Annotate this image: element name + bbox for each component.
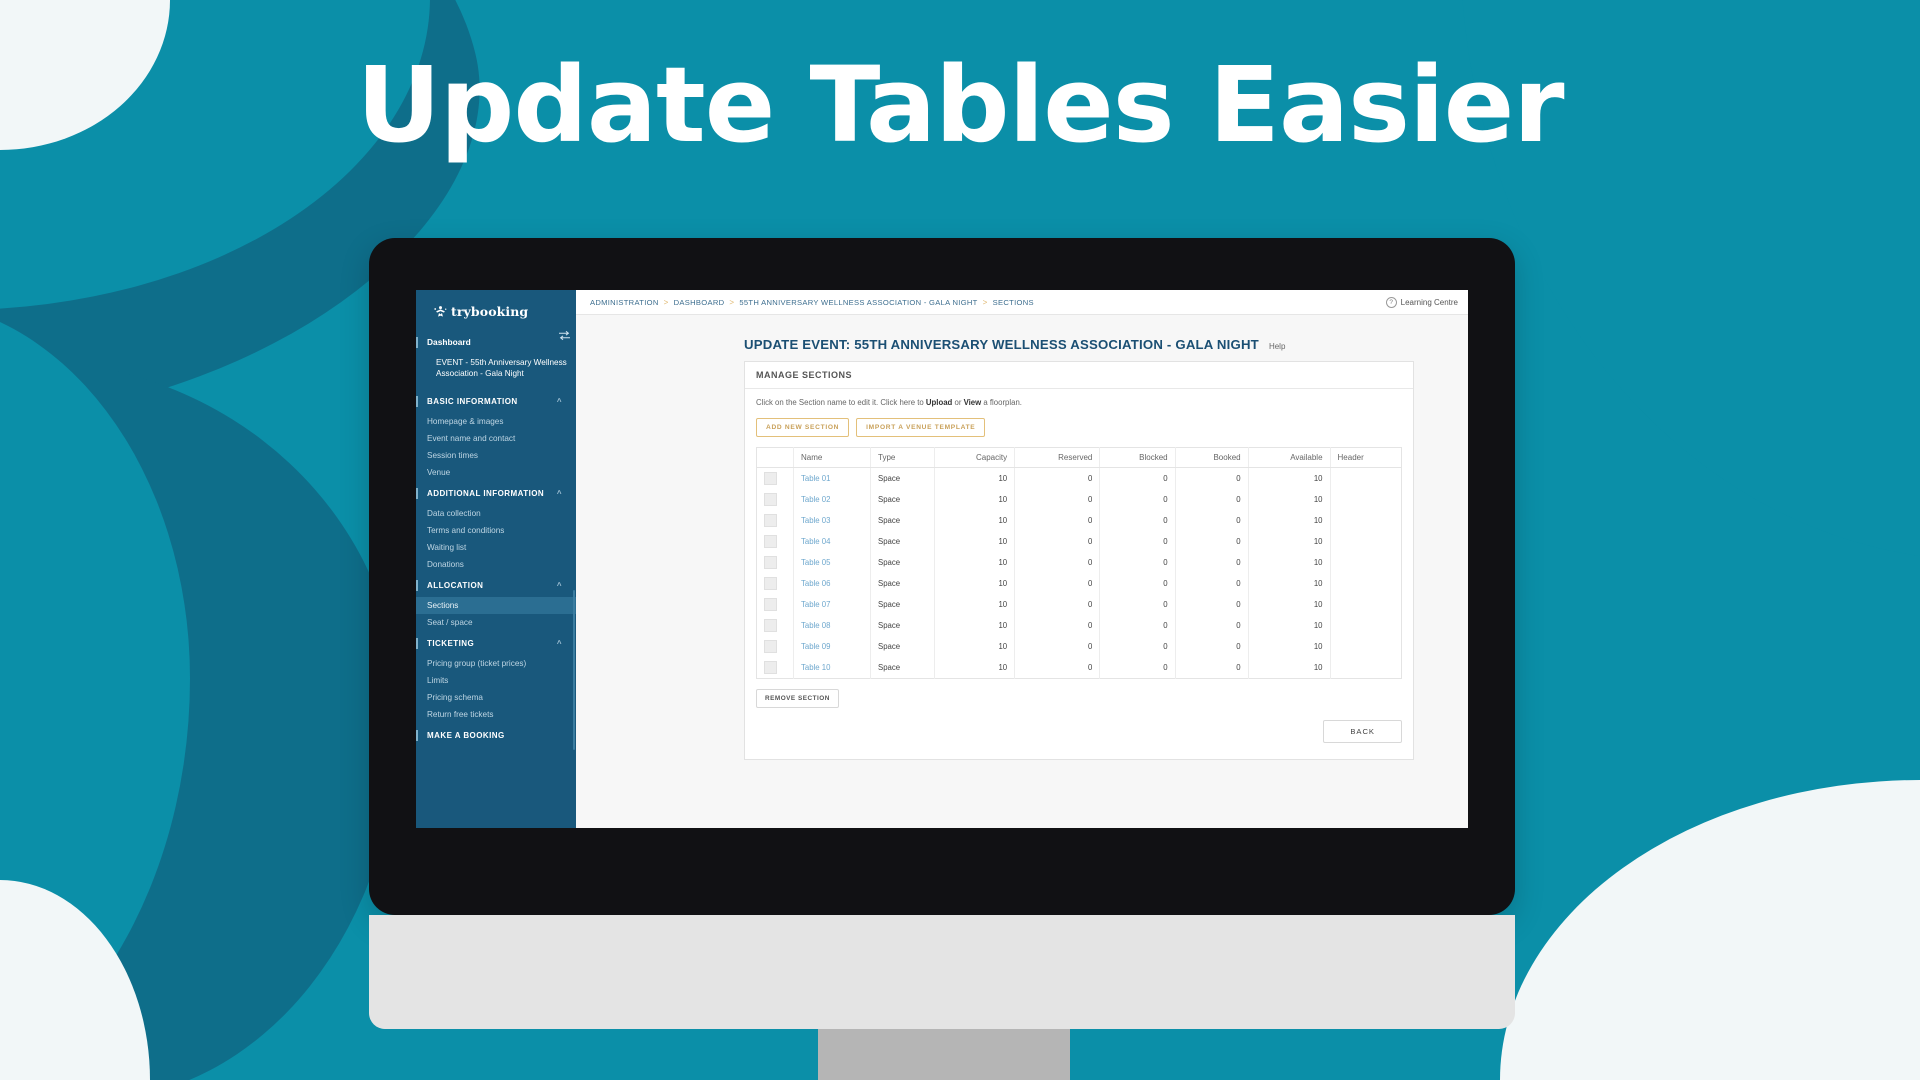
row-reserved-cell: 0 (1015, 636, 1100, 657)
row-select-cell (757, 510, 794, 531)
sidebar-group-ticketing[interactable]: TICKETING ^ (416, 631, 576, 655)
row-reserved-cell: 0 (1015, 594, 1100, 615)
sidebar-current-event: EVENT - 55th Anniversary Wellness Associ… (416, 351, 576, 389)
monitor-chin (369, 915, 1515, 1029)
sidebar-group-basic-information[interactable]: BASIC INFORMATION ^ (416, 389, 576, 413)
table-row: Table 06Space1000010 (757, 573, 1402, 594)
row-available-cell: 10 (1248, 615, 1330, 636)
row-booked-cell: 0 (1175, 636, 1248, 657)
row-name-cell: Table 04 (794, 531, 871, 552)
section-name-link[interactable]: Table 05 (801, 558, 830, 567)
sidebar-item-homepage-images[interactable]: Homepage & images (416, 413, 576, 430)
table-row: Table 01Space1000010 (757, 468, 1402, 490)
row-type-cell: Space (871, 531, 935, 552)
row-header-cell (1330, 615, 1401, 636)
manage-sections-card: MANAGE SECTIONS Click on the Section nam… (744, 361, 1414, 760)
row-header-cell (1330, 468, 1401, 490)
brand-wordmark: trybooking (451, 304, 528, 319)
back-button[interactable]: BACK (1323, 720, 1402, 743)
section-name-link[interactable]: Table 09 (801, 642, 830, 651)
row-select-cell (757, 636, 794, 657)
row-booked-cell: 0 (1175, 531, 1248, 552)
row-name-cell: Table 08 (794, 615, 871, 636)
row-select-cell (757, 594, 794, 615)
row-type-cell: Space (871, 510, 935, 531)
row-name-cell: Table 09 (794, 636, 871, 657)
view-link[interactable]: View (964, 398, 982, 407)
row-name-cell: Table 06 (794, 573, 871, 594)
row-reserved-cell: 0 (1015, 552, 1100, 573)
sidebar-group-label: MAKE A BOOKING (427, 731, 505, 740)
sidebar-scrollbar[interactable] (573, 590, 575, 750)
section-name-link[interactable]: Table 04 (801, 537, 830, 546)
row-select-cell (757, 468, 794, 490)
row-available-cell: 10 (1248, 636, 1330, 657)
sidebar-item-terms-and-conditions[interactable]: Terms and conditions (416, 522, 576, 539)
row-select-cell (757, 573, 794, 594)
breadcrumb-event[interactable]: 55TH ANNIVERSARY WELLNESS ASSOCIATION - … (739, 298, 977, 307)
row-available-cell: 10 (1248, 573, 1330, 594)
row-header-cell (1330, 510, 1401, 531)
monitor-stand-neck (818, 1029, 1070, 1080)
learning-centre-label: Learning Centre (1401, 298, 1458, 307)
row-available-cell: 10 (1248, 594, 1330, 615)
section-name-link[interactable]: Table 02 (801, 495, 830, 504)
sidebar-item-limits[interactable]: Limits (416, 672, 576, 689)
row-blocked-cell: 0 (1100, 573, 1175, 594)
row-reserved-cell: 0 (1015, 489, 1100, 510)
sidebar-group-make-a-booking[interactable]: MAKE A BOOKING (416, 723, 576, 747)
column-type: Type (871, 448, 935, 468)
column-booked: Booked (1175, 448, 1248, 468)
back-button-row: BACK (756, 720, 1402, 743)
page-title: UPDATE EVENT: 55TH ANNIVERSARY WELLNESS … (744, 337, 1259, 352)
sidebar-item-waiting-list[interactable]: Waiting list (416, 539, 576, 556)
sidebar-item-dashboard[interactable]: Dashboard (416, 329, 576, 351)
row-checkbox[interactable] (764, 493, 777, 506)
row-booked-cell: 0 (1175, 552, 1248, 573)
section-name-link[interactable]: Table 08 (801, 621, 830, 630)
sidebar-item-event-name-and-contact[interactable]: Event name and contact (416, 430, 576, 447)
row-reserved-cell: 0 (1015, 510, 1100, 531)
sidebar-group-label: BASIC INFORMATION (427, 397, 518, 406)
row-capacity-cell: 10 (935, 489, 1015, 510)
row-blocked-cell: 0 (1100, 510, 1175, 531)
row-checkbox[interactable] (764, 598, 777, 611)
row-checkbox[interactable] (764, 619, 777, 632)
table-row: Table 10Space1000010 (757, 657, 1402, 679)
row-capacity-cell: 10 (935, 615, 1015, 636)
row-type-cell: Space (871, 573, 935, 594)
upload-link[interactable]: Upload (926, 398, 952, 407)
sidebar-group-label: ADDITIONAL INFORMATION (427, 489, 544, 498)
hint-part-3: a floorplan. (981, 398, 1022, 407)
chevron-up-icon: ^ (557, 581, 566, 590)
row-available-cell: 10 (1248, 531, 1330, 552)
top-bar: ADMINISTRATION > DASHBOARD > 55TH ANNIVE… (576, 290, 1468, 315)
row-header-cell (1330, 636, 1401, 657)
column-available: Available (1248, 448, 1330, 468)
section-name-link[interactable]: Table 06 (801, 579, 830, 588)
table-header-row: Name Type Capacity Reserved Blocked Book… (757, 448, 1402, 468)
card-body: Click on the Section name to edit it. Cl… (745, 389, 1413, 759)
sidebar-item-sections[interactable]: Sections (416, 597, 576, 614)
monitor-screen: trybooking Dashboard EVENT - 55th Annive… (416, 290, 1468, 828)
row-type-cell: Space (871, 552, 935, 573)
row-blocked-cell: 0 (1100, 468, 1175, 490)
row-select-cell (757, 657, 794, 679)
row-select-cell (757, 531, 794, 552)
row-type-cell: Space (871, 489, 935, 510)
row-capacity-cell: 10 (935, 594, 1015, 615)
row-blocked-cell: 0 (1100, 552, 1175, 573)
sections-table: Name Type Capacity Reserved Blocked Book… (756, 447, 1402, 679)
row-type-cell: Space (871, 636, 935, 657)
section-name-link[interactable]: Table 07 (801, 600, 830, 609)
row-reserved-cell: 0 (1015, 615, 1100, 636)
row-checkbox[interactable] (764, 577, 777, 590)
row-booked-cell: 0 (1175, 657, 1248, 679)
row-checkbox[interactable] (764, 556, 777, 569)
table-row: Table 08Space1000010 (757, 615, 1402, 636)
row-available-cell: 10 (1248, 510, 1330, 531)
sidebar-item-donations[interactable]: Donations (416, 556, 576, 573)
row-booked-cell: 0 (1175, 489, 1248, 510)
row-select-cell (757, 489, 794, 510)
sidebar-item-session-times[interactable]: Session times (416, 447, 576, 464)
row-booked-cell: 0 (1175, 468, 1248, 490)
trybooking-mark-icon (434, 305, 447, 318)
sidebar: trybooking Dashboard EVENT - 55th Annive… (416, 290, 576, 828)
row-header-cell (1330, 594, 1401, 615)
row-name-cell: Table 05 (794, 552, 871, 573)
breadcrumb-administration[interactable]: ADMINISTRATION (590, 298, 659, 307)
sidebar-item-pricing-group[interactable]: Pricing group (ticket prices) (416, 655, 576, 672)
row-checkbox[interactable] (764, 514, 777, 527)
column-select (757, 448, 794, 468)
row-available-cell: 10 (1248, 657, 1330, 679)
row-type-cell: Space (871, 468, 935, 490)
breadcrumb-separator-icon: > (983, 298, 988, 307)
table-row: Table 02Space1000010 (757, 489, 1402, 510)
sidebar-group-label: ALLOCATION (427, 581, 483, 590)
row-blocked-cell: 0 (1100, 657, 1175, 679)
row-name-cell: Table 01 (794, 468, 871, 490)
hero-title: Update Tables Easier (0, 48, 1920, 162)
hint-part-1: Click on the Section name to edit it. Cl… (756, 398, 926, 407)
row-booked-cell: 0 (1175, 594, 1248, 615)
table-row: Table 09Space1000010 (757, 636, 1402, 657)
breadcrumb-sections[interactable]: SECTIONS (993, 298, 1034, 307)
section-hint-text: Click on the Section name to edit it. Cl… (756, 398, 1402, 407)
row-capacity-cell: 10 (935, 531, 1015, 552)
column-name: Name (794, 448, 871, 468)
row-available-cell: 10 (1248, 468, 1330, 490)
sidebar-group-additional-information[interactable]: ADDITIONAL INFORMATION ^ (416, 481, 576, 505)
row-capacity-cell: 10 (935, 510, 1015, 531)
column-reserved: Reserved (1015, 448, 1100, 468)
row-reserved-cell: 0 (1015, 531, 1100, 552)
table-row: Table 07Space1000010 (757, 594, 1402, 615)
monitor-bezel: trybooking Dashboard EVENT - 55th Annive… (369, 238, 1515, 915)
row-capacity-cell: 10 (935, 468, 1015, 490)
row-capacity-cell: 10 (935, 657, 1015, 679)
row-header-cell (1330, 657, 1401, 679)
brand-logo[interactable]: trybooking (416, 290, 576, 329)
row-checkbox[interactable] (764, 661, 777, 674)
row-type-cell: Space (871, 615, 935, 636)
row-booked-cell: 0 (1175, 573, 1248, 594)
action-button-row: ADD NEW SECTION IMPORT A VENUE TEMPLATE (756, 418, 1402, 437)
row-header-cell (1330, 573, 1401, 594)
page-title-row: UPDATE EVENT: 55TH ANNIVERSARY WELLNESS … (744, 337, 1412, 352)
row-select-cell (757, 552, 794, 573)
breadcrumb: ADMINISTRATION > DASHBOARD > 55TH ANNIVE… (590, 298, 1034, 307)
sidebar-item-data-collection[interactable]: Data collection (416, 505, 576, 522)
row-name-cell: Table 07 (794, 594, 871, 615)
breadcrumb-separator-icon: > (729, 298, 734, 307)
row-type-cell: Space (871, 594, 935, 615)
row-blocked-cell: 0 (1100, 636, 1175, 657)
trybooking-app: trybooking Dashboard EVENT - 55th Annive… (416, 290, 1468, 828)
breadcrumb-separator-icon: > (664, 298, 669, 307)
chevron-up-icon: ^ (557, 639, 566, 648)
content-area: UPDATE EVENT: 55TH ANNIVERSARY WELLNESS … (576, 315, 1468, 828)
section-name-link[interactable]: Table 10 (801, 663, 830, 672)
row-name-cell: Table 10 (794, 657, 871, 679)
sections-table-head: Name Type Capacity Reserved Blocked Book… (757, 448, 1402, 468)
chevron-up-icon: ^ (557, 397, 566, 406)
row-reserved-cell: 0 (1015, 657, 1100, 679)
sidebar-groups: BASIC INFORMATION ^ Homepage & images Ev… (416, 389, 576, 747)
row-type-cell: Space (871, 657, 935, 679)
row-header-cell (1330, 489, 1401, 510)
column-blocked: Blocked (1100, 448, 1175, 468)
learning-centre-link[interactable]: ? Learning Centre (1386, 297, 1458, 308)
row-checkbox[interactable] (764, 472, 777, 485)
column-capacity: Capacity (935, 448, 1015, 468)
sidebar-group-allocation[interactable]: ALLOCATION ^ (416, 573, 576, 597)
sections-table-body: Table 01Space1000010Table 02Space1000010… (757, 468, 1402, 679)
row-booked-cell: 0 (1175, 510, 1248, 531)
import-venue-template-button[interactable]: IMPORT A VENUE TEMPLATE (856, 418, 985, 437)
row-booked-cell: 0 (1175, 615, 1248, 636)
section-name-link[interactable]: Table 01 (801, 474, 830, 483)
row-name-cell: Table 03 (794, 510, 871, 531)
row-reserved-cell: 0 (1015, 573, 1100, 594)
row-checkbox[interactable] (764, 535, 777, 548)
section-name-link[interactable]: Table 03 (801, 516, 830, 525)
help-link[interactable]: Help (1269, 342, 1285, 351)
row-capacity-cell: 10 (935, 636, 1015, 657)
question-circle-icon: ? (1386, 297, 1397, 308)
chevron-up-icon: ^ (557, 489, 566, 498)
hint-part-2: or (952, 398, 963, 407)
table-row: Table 04Space1000010 (757, 531, 1402, 552)
row-blocked-cell: 0 (1100, 489, 1175, 510)
main-area: ADMINISTRATION > DASHBOARD > 55TH ANNIVE… (576, 290, 1468, 828)
breadcrumb-dashboard[interactable]: DASHBOARD (674, 298, 725, 307)
row-header-cell (1330, 552, 1401, 573)
row-reserved-cell: 0 (1015, 468, 1100, 490)
row-capacity-cell: 10 (935, 552, 1015, 573)
card-title: MANAGE SECTIONS (745, 362, 1413, 389)
row-blocked-cell: 0 (1100, 531, 1175, 552)
table-row: Table 03Space1000010 (757, 510, 1402, 531)
add-new-section-button[interactable]: ADD NEW SECTION (756, 418, 849, 437)
row-checkbox[interactable] (764, 640, 777, 653)
row-blocked-cell: 0 (1100, 615, 1175, 636)
table-row: Table 05Space1000010 (757, 552, 1402, 573)
row-select-cell (757, 615, 794, 636)
row-available-cell: 10 (1248, 489, 1330, 510)
sidebar-item-pricing-schema[interactable]: Pricing schema (416, 689, 576, 706)
row-name-cell: Table 02 (794, 489, 871, 510)
row-header-cell (1330, 531, 1401, 552)
sidebar-group-label: TICKETING (427, 639, 474, 648)
sidebar-item-seat-space[interactable]: Seat / space (416, 614, 576, 631)
row-available-cell: 10 (1248, 552, 1330, 573)
row-blocked-cell: 0 (1100, 594, 1175, 615)
sidebar-item-venue[interactable]: Venue (416, 464, 576, 481)
page-wrapper: UPDATE EVENT: 55TH ANNIVERSARY WELLNESS … (576, 315, 1468, 760)
row-capacity-cell: 10 (935, 573, 1015, 594)
column-header: Header (1330, 448, 1401, 468)
remove-section-button[interactable]: REMOVE SECTION (756, 689, 839, 708)
sidebar-item-return-free-tickets[interactable]: Return free tickets (416, 706, 576, 723)
